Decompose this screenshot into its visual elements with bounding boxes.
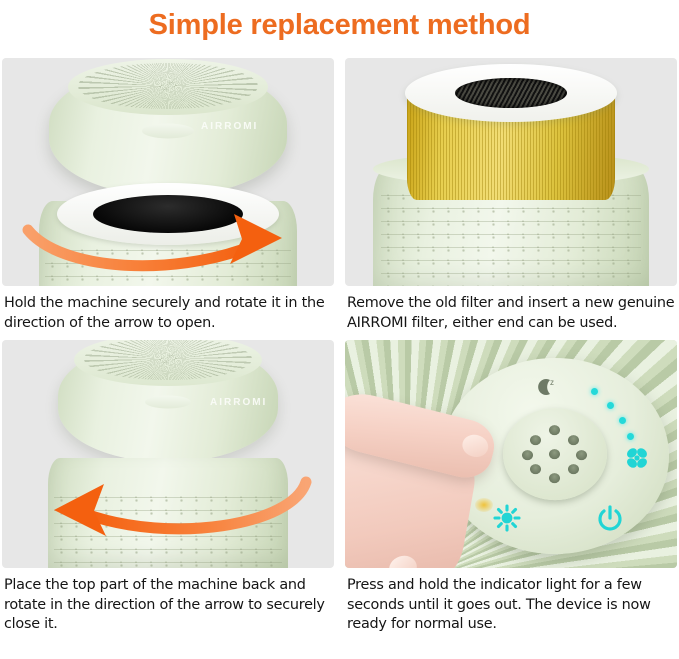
hand-pressing bbox=[345, 406, 513, 568]
indicator-dot-3 bbox=[619, 417, 626, 424]
step-1-image: AIRROMI bbox=[2, 58, 334, 286]
top-center-hub bbox=[145, 396, 191, 409]
filter-top-cap bbox=[405, 64, 617, 122]
purifier-top-section: AIRROMI bbox=[58, 342, 278, 462]
brand-label: AIRROMI bbox=[201, 121, 258, 132]
speaker-holes bbox=[522, 425, 588, 483]
base-white-rim bbox=[57, 183, 279, 245]
body-grill-texture bbox=[54, 494, 282, 568]
step-4-image: z bbox=[345, 340, 677, 568]
indicator-dot-1 bbox=[591, 388, 598, 395]
steps-grid: AIRROMI bbox=[0, 58, 679, 635]
step-3-image: AIRROMI bbox=[2, 340, 334, 568]
power-icon[interactable] bbox=[595, 504, 625, 534]
svg-text:z: z bbox=[550, 378, 554, 387]
step-3-caption: Place the top part of the machine back a… bbox=[2, 568, 334, 635]
sleep-mode-icon[interactable]: z bbox=[535, 376, 561, 398]
step-2-caption: Remove the old filter and insert a new g… bbox=[345, 286, 677, 333]
step-1-caption: Hold the machine securely and rotate it … bbox=[2, 286, 334, 333]
lid-vent-fins-icon bbox=[78, 63, 258, 109]
step-4-caption: Press and hold the indicator light for a… bbox=[345, 568, 677, 635]
step-2-image bbox=[345, 58, 677, 286]
lid-center-hub bbox=[142, 124, 194, 139]
press-indicator-glow bbox=[475, 498, 493, 512]
center-knob[interactable] bbox=[503, 408, 607, 500]
step-card-2: Remove the old filter and insert a new g… bbox=[345, 58, 677, 333]
step-card-3: AIRROMI Place bbox=[2, 340, 334, 635]
housing-grill-texture bbox=[381, 192, 641, 286]
purifier-lid: AIRROMI bbox=[49, 66, 287, 196]
finger-nail bbox=[460, 432, 491, 460]
indicator-dot-2 bbox=[607, 402, 614, 409]
step-card-1: AIRROMI bbox=[2, 58, 334, 333]
infographic-page: Simple replacement method AIRROMI bbox=[0, 0, 679, 659]
filter-mesh-opening bbox=[455, 78, 567, 108]
fan-speed-icon[interactable] bbox=[623, 444, 651, 472]
brand-label: AIRROMI bbox=[210, 397, 267, 408]
base-opening bbox=[93, 195, 243, 233]
purifier-lower-body bbox=[48, 458, 288, 568]
indicator-dot-4 bbox=[627, 433, 634, 440]
step-card-4: z bbox=[345, 340, 677, 635]
page-title: Simple replacement method bbox=[0, 0, 679, 58]
purifier-base bbox=[39, 201, 297, 286]
base-grill-texture bbox=[45, 247, 291, 286]
